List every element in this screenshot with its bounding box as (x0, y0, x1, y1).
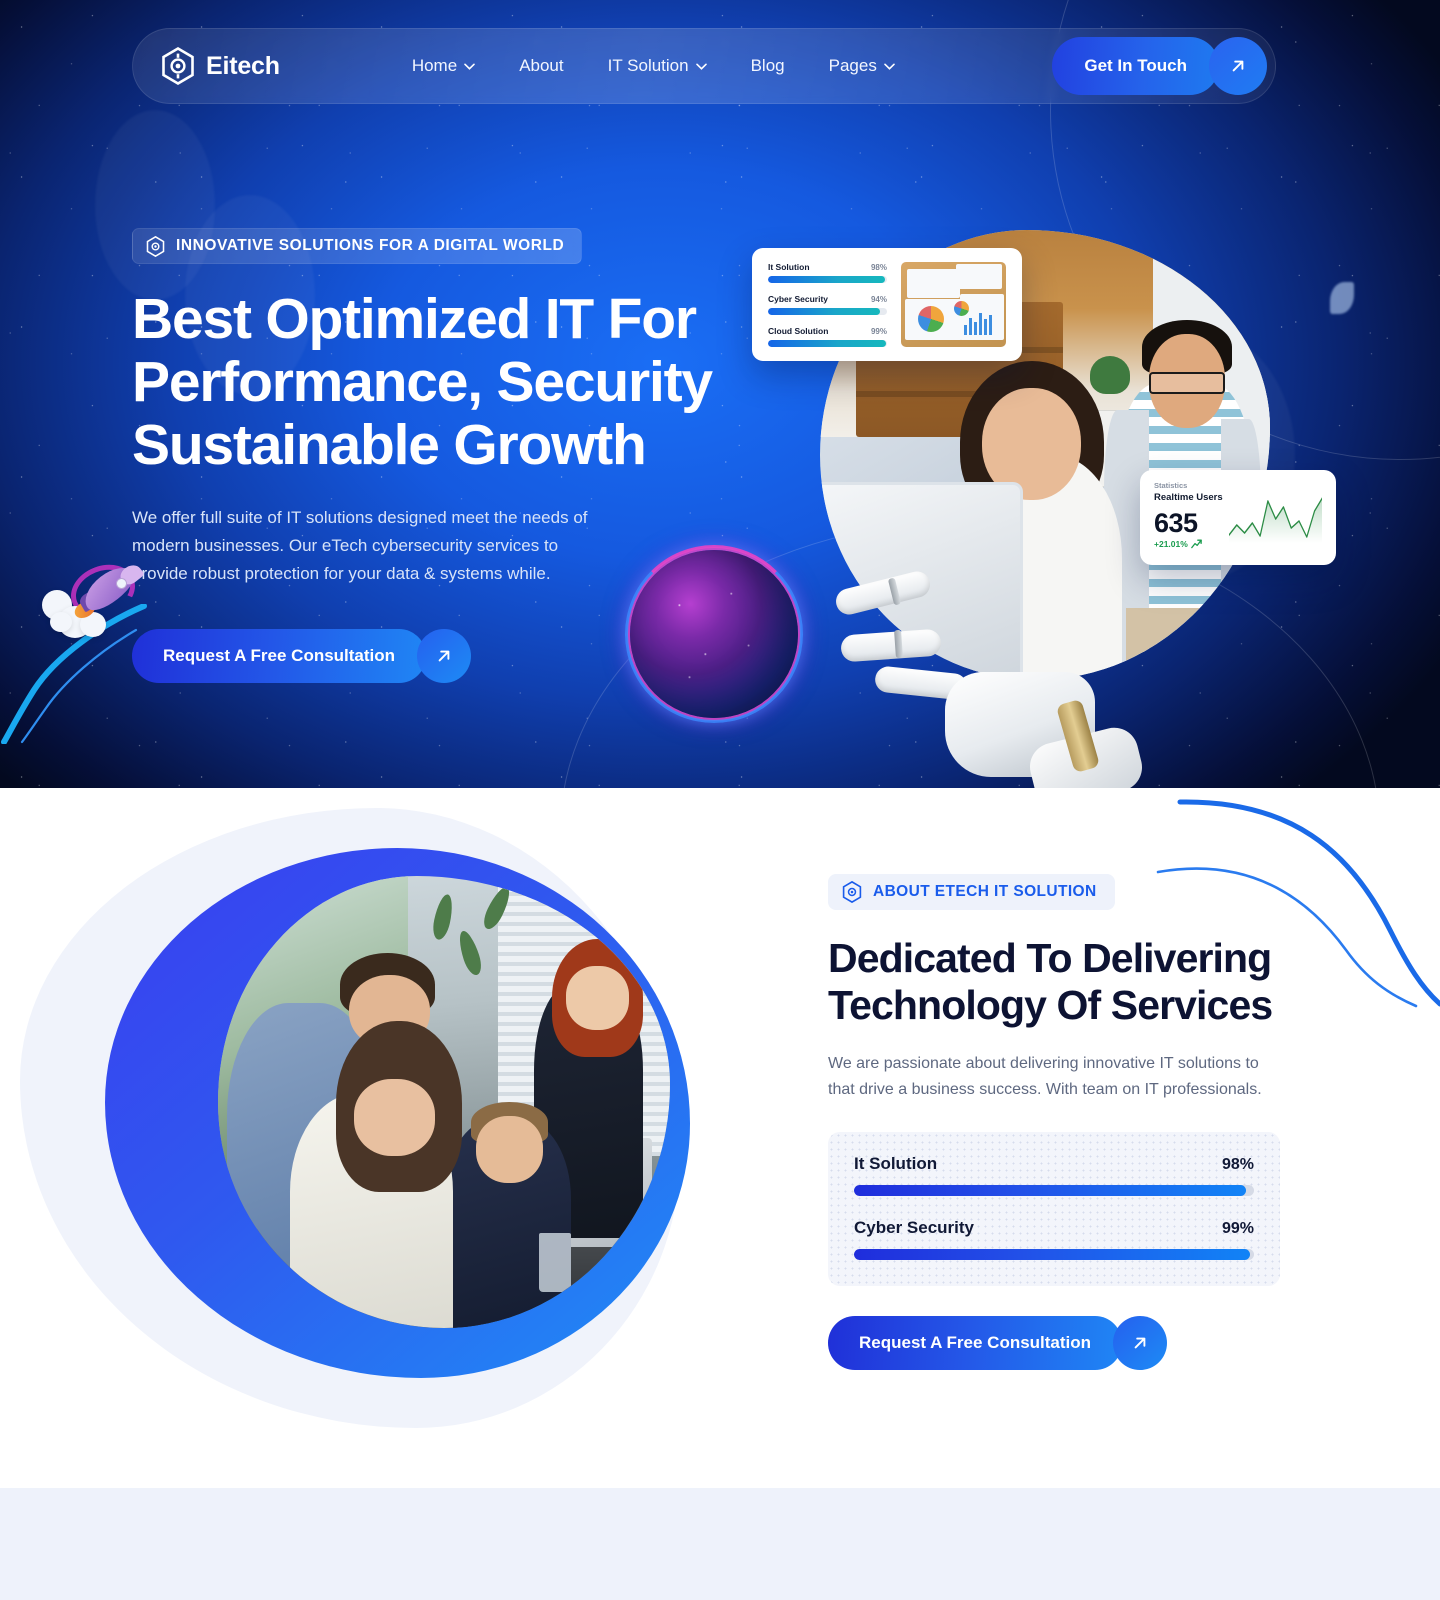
hero-skill-fill (768, 308, 880, 315)
hexagon-gear-icon (146, 236, 165, 257)
nav-cta-group: Get In Touch (1052, 37, 1267, 95)
about-consultation-button[interactable]: Request A Free Consultation (828, 1316, 1122, 1370)
robot-finger-middle (840, 629, 942, 663)
hero-skill-card-thumbnail (901, 262, 1006, 347)
hero-skill-name: It Solution (768, 262, 810, 272)
photo-head (476, 1116, 544, 1184)
about-section: ABOUT ETECH IT SOLUTION Dedicated To Del… (0, 788, 1440, 1488)
rocket-cloud (50, 612, 72, 632)
hero-consultation-arrow-button[interactable] (417, 629, 471, 683)
hero-description: We offer full suite of IT solutions desi… (132, 504, 607, 588)
photo-head (354, 1079, 435, 1156)
nav-item-home[interactable]: Home (390, 56, 497, 76)
hero-skill-row: It Solution 98% (768, 262, 887, 283)
hero-visual: It Solution 98% Cyber Security 94% (700, 120, 1400, 780)
about-skill-row: Cyber Security 99% (854, 1218, 1254, 1260)
get-in-touch-button[interactable]: Get In Touch (1052, 37, 1219, 95)
arrow-up-right-icon (1228, 56, 1248, 76)
nav-item-it-solution[interactable]: IT Solution (586, 56, 729, 76)
hero-badge: INNOVATIVE SOLUTIONS FOR A DIGITAL WORLD (132, 228, 582, 264)
about-skill-track (854, 1185, 1254, 1196)
photo-leaf (430, 893, 455, 941)
about-cta-group: Request A Free Consultation (828, 1316, 1298, 1370)
hexagon-gear-icon (842, 881, 862, 903)
robot-finger-index (833, 569, 932, 617)
get-in-touch-arrow-button[interactable] (1209, 37, 1267, 95)
robot-hand-illustration (835, 562, 1095, 777)
hero-skill-fill (768, 276, 885, 283)
hero-stats-value: 635 (1154, 508, 1223, 538)
hero-skill-percent: 94% (871, 295, 887, 304)
hero-stats-title: Realtime Users (1154, 492, 1223, 503)
hero-stats-text: Statistics Realtime Users 635 +21.01% (1154, 481, 1223, 549)
photo-pants (1126, 608, 1243, 680)
hero-stats-delta: +21.01% (1154, 539, 1223, 549)
hero-stats-kicker: Statistics (1154, 481, 1223, 490)
about-skill-track (854, 1249, 1254, 1260)
nav-item-about-label: About (519, 56, 563, 76)
about-badge-label: ABOUT ETECH IT SOLUTION (873, 883, 1097, 901)
photo-leaf (455, 929, 484, 978)
photo-water-glass (539, 1233, 571, 1292)
hexagon-gear-icon (161, 47, 195, 85)
main-navbar: Eitech Home About IT Solution Blog (132, 28, 1276, 104)
hero-skill-card: It Solution 98% Cyber Security 94% (752, 248, 1022, 361)
arrow-up-right-icon (434, 646, 454, 666)
sparkline-chart-icon (1229, 495, 1322, 543)
nav-item-blog[interactable]: Blog (729, 56, 807, 76)
chevron-down-icon (884, 63, 895, 70)
rocket-illustration (36, 560, 166, 680)
page-bottom-strip (0, 1488, 1440, 1600)
photo-plant (1090, 356, 1130, 394)
landing-page: Eitech Home About IT Solution Blog (0, 0, 1440, 1600)
about-skill-name: Cyber Security (854, 1218, 974, 1238)
globe-network-dots (642, 562, 786, 706)
photo-glasses (1149, 372, 1226, 395)
nav-item-pages[interactable]: Pages (807, 56, 917, 76)
nav-item-blog-label: Blog (751, 56, 785, 76)
hero-skill-track (768, 276, 887, 283)
about-description: We are passionate about delivering innov… (828, 1051, 1268, 1103)
about-team-photo (218, 876, 670, 1328)
brand-name: Eitech (206, 52, 280, 81)
nav-item-it-solution-label: IT Solution (608, 56, 689, 76)
nav-item-home-label: Home (412, 56, 457, 76)
hero-stats-sparkline (1229, 495, 1322, 548)
hero-skill-name: Cyber Security (768, 294, 828, 304)
about-skill-fill (854, 1185, 1246, 1196)
about-skill-percent: 98% (1222, 1156, 1254, 1174)
hero-badge-label: INNOVATIVE SOLUTIONS FOR A DIGITAL WORLD (176, 237, 564, 255)
hero-skill-fill (768, 340, 886, 347)
nav-item-pages-label: Pages (829, 56, 877, 76)
hero-skill-row: Cyber Security 94% (768, 294, 887, 315)
about-skill-percent: 99% (1222, 1220, 1254, 1238)
hero-skill-list: It Solution 98% Cyber Security 94% (768, 262, 887, 347)
hero-stats-card: Statistics Realtime Users 635 +21.01% (1140, 470, 1336, 565)
hero-consultation-button[interactable]: Request A Free Consultation (132, 629, 426, 683)
about-title: Dedicated To Delivering Technology Of Se… (828, 935, 1278, 1029)
about-badge: ABOUT ETECH IT SOLUTION (828, 874, 1115, 910)
hero-stats-delta-label: +21.01% (1154, 539, 1188, 549)
hero-skill-track (768, 308, 887, 315)
hero-title: Best Optimized IT For Performance, Secur… (132, 288, 712, 477)
about-skill-name: It Solution (854, 1154, 937, 1174)
hero-section: Eitech Home About IT Solution Blog (0, 0, 1440, 788)
photo-head (566, 966, 629, 1029)
about-consultation-arrow-button[interactable] (1113, 1316, 1167, 1370)
about-skills-card: It Solution 98% Cyber Security 99% (828, 1132, 1280, 1286)
hero-skill-percent: 98% (871, 263, 887, 272)
about-skill-row: It Solution 98% (854, 1154, 1254, 1196)
chevron-down-icon (464, 63, 475, 70)
globe-illustration (630, 550, 798, 718)
brand-logo[interactable]: Eitech (161, 47, 280, 85)
about-content: ABOUT ETECH IT SOLUTION Dedicated To Del… (828, 874, 1298, 1370)
nav-links: Home About IT Solution Blog Pages (390, 56, 917, 76)
arrow-up-right-icon (1130, 1333, 1150, 1353)
about-skill-fill (854, 1249, 1250, 1260)
hero-skill-name: Cloud Solution (768, 326, 828, 336)
trend-up-icon (1191, 539, 1202, 549)
rocket-window (116, 578, 127, 589)
hero-skill-percent: 99% (871, 327, 887, 336)
hero-skill-row: Cloud Solution 99% (768, 326, 887, 347)
nav-item-about[interactable]: About (497, 56, 585, 76)
chevron-down-icon (696, 63, 707, 70)
hero-skill-track (768, 340, 887, 347)
